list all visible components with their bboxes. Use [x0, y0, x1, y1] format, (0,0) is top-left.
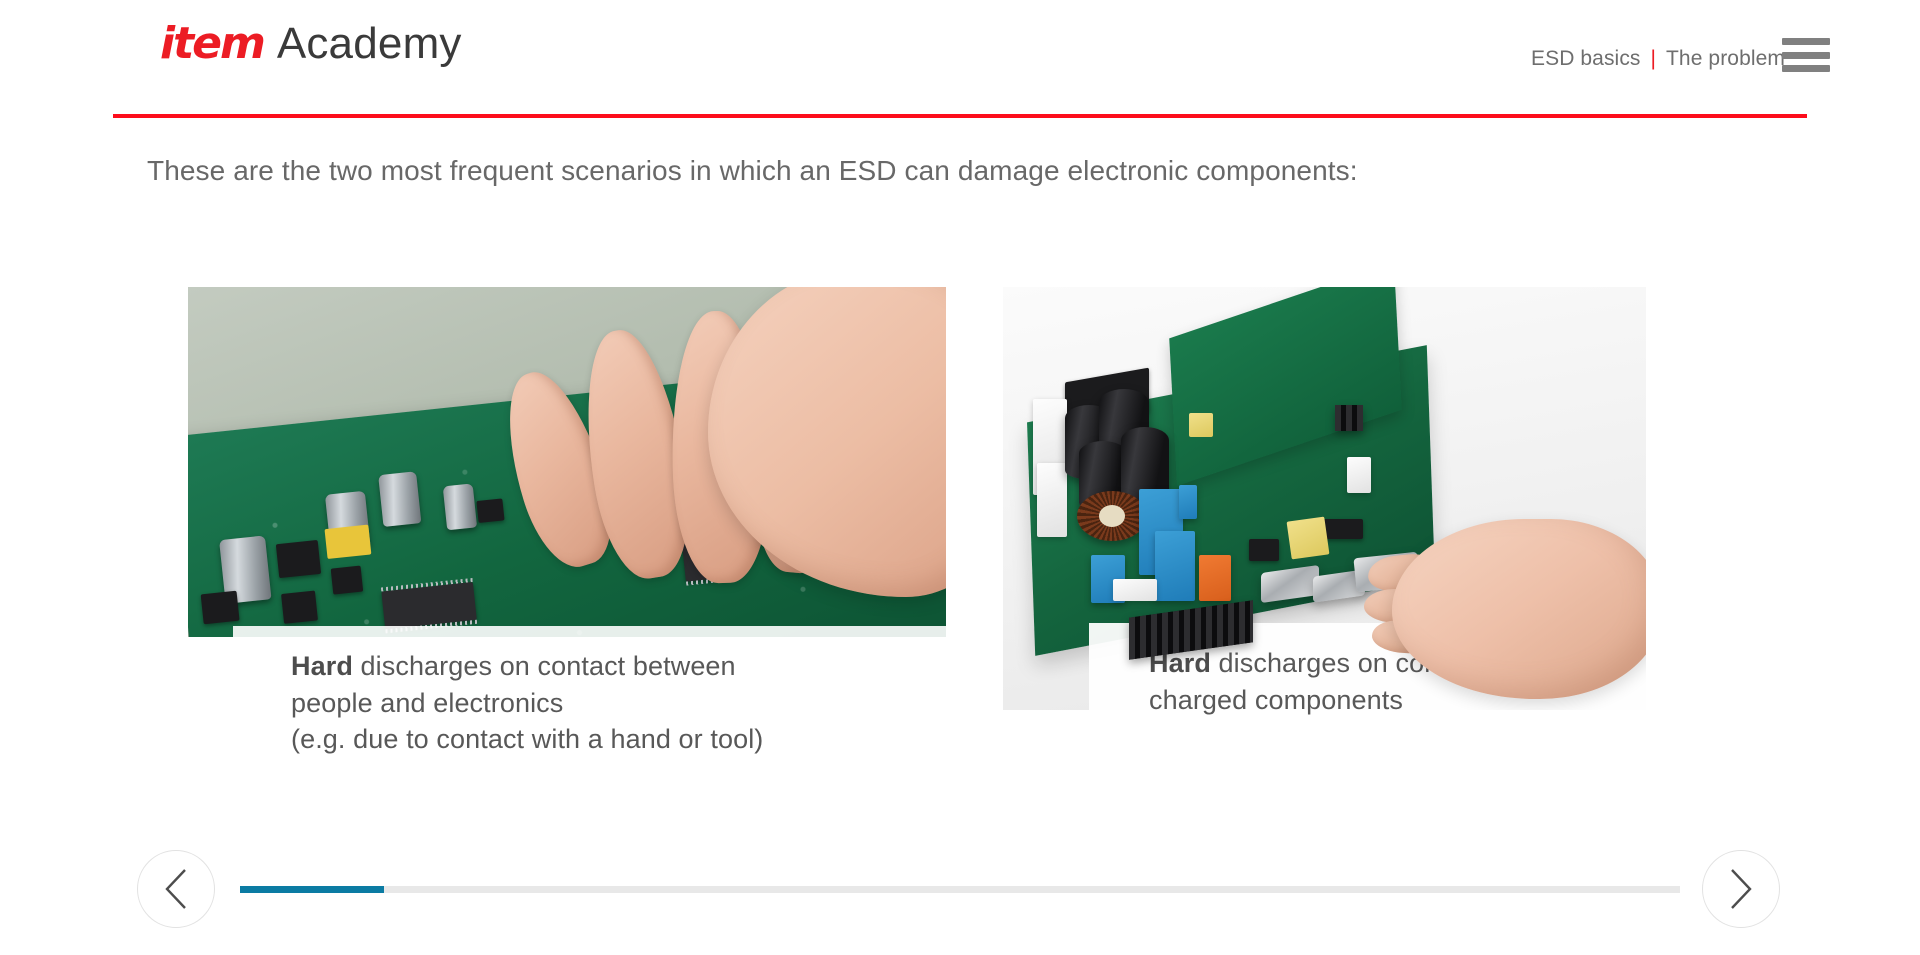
nav-link-esd-basics[interactable]: ESD basics [1531, 48, 1641, 69]
carousel-progress-fill [240, 886, 384, 893]
caption-line-1-rest: discharges on contact between [353, 651, 736, 681]
page-root: item Academy ESD basics | The problem Th… [0, 0, 1920, 955]
brand-academy-text: Academy [277, 22, 462, 66]
carousel-next-button[interactable] [1702, 850, 1780, 928]
hamburger-bar-1 [1782, 38, 1830, 45]
scenario-cards: Hard discharges on contact between peopl… [0, 287, 1920, 787]
header-divider-rule [113, 114, 1807, 118]
caption-line-3: (e.g. due to contact with a hand or tool… [291, 721, 946, 758]
carousel-prev-button[interactable] [137, 850, 215, 928]
chevron-left-icon [163, 867, 189, 911]
nav-link-the-problem[interactable]: The problem [1666, 48, 1785, 69]
caption-emphasis: Hard [291, 651, 353, 681]
nav-separator: | [1651, 48, 1656, 69]
header-nav: ESD basics | The problem [1531, 48, 1785, 69]
brand-item-text: item [160, 22, 264, 66]
hamburger-bar-2 [1782, 52, 1830, 59]
site-header: item Academy ESD basics | The problem [0, 0, 1920, 122]
caption-line-2: people and electronics [291, 685, 946, 722]
carousel-controls [0, 850, 1920, 955]
card-hard-discharge-people[interactable]: Hard discharges on contact between peopl… [188, 287, 946, 637]
chevron-right-icon [1728, 867, 1754, 911]
intro-paragraph: These are the two most frequent scenario… [147, 152, 1358, 190]
hamburger-bar-3 [1782, 65, 1830, 72]
caption-line-1: Hard discharges on contact between [291, 648, 946, 685]
hand-graphic [1362, 519, 1646, 709]
card-caption: Hard discharges on contact between peopl… [233, 626, 946, 783]
hand-graphic [458, 287, 946, 637]
card-image-hand-on-pcb [188, 287, 946, 637]
carousel-progress-track[interactable] [240, 886, 1680, 893]
hamburger-menu-icon[interactable] [1782, 38, 1830, 72]
brand-logo[interactable]: item Academy [160, 22, 462, 66]
card-hard-discharge-components[interactable]: Hard discharges on contact with charged … [1003, 287, 1646, 710]
